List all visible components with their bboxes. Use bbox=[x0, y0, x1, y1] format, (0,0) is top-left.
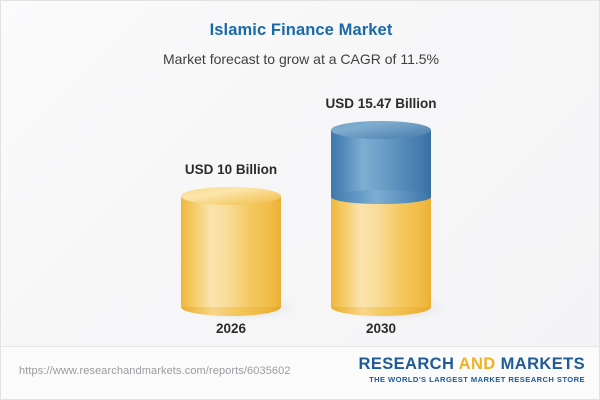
cylinder-bar-2030 bbox=[331, 121, 431, 307]
cylinder-segment-seam-2030 bbox=[331, 190, 431, 204]
bar-value-label-2030: USD 15.47 Billion bbox=[281, 96, 481, 111]
logo-tagline: THE WORLD'S LARGEST MARKET RESEARCH STOR… bbox=[359, 375, 586, 384]
chart-plot-area: USD 10 Billion 2026 USD 15.47 Billion 20… bbox=[1, 81, 600, 341]
logo-word-research: RESEARCH bbox=[359, 355, 455, 373]
logo-word-markets: MARKETS bbox=[501, 355, 585, 373]
cylinder-bar-2026 bbox=[181, 187, 281, 307]
report-url-link[interactable]: https://www.researchandmarkets.com/repor… bbox=[19, 365, 291, 377]
footer-bar: https://www.researchandmarkets.com/repor… bbox=[1, 346, 600, 399]
infographic-canvas: Islamic Finance Market Market forecast t… bbox=[0, 0, 600, 400]
cylinder-body-base-2026 bbox=[181, 196, 281, 307]
brand-logo[interactable]: RESEARCH AND MARKETS THE WORLD'S LARGEST… bbox=[359, 356, 586, 384]
cylinder-top-cap-2030 bbox=[331, 121, 431, 139]
page-title: Islamic Finance Market bbox=[1, 21, 600, 40]
cylinder-top-cap-2026 bbox=[181, 187, 281, 205]
logo-word-and: AND bbox=[459, 355, 496, 373]
cylinder-body-growth-2030 bbox=[331, 130, 431, 197]
logo-wordmark: RESEARCH AND MARKETS bbox=[359, 356, 586, 373]
chart-subtitle: Market forecast to grow at a CAGR of 11.… bbox=[1, 51, 600, 67]
bar-value-label-2026: USD 10 Billion bbox=[131, 162, 331, 177]
x-axis-label-2030: 2030 bbox=[281, 321, 481, 336]
